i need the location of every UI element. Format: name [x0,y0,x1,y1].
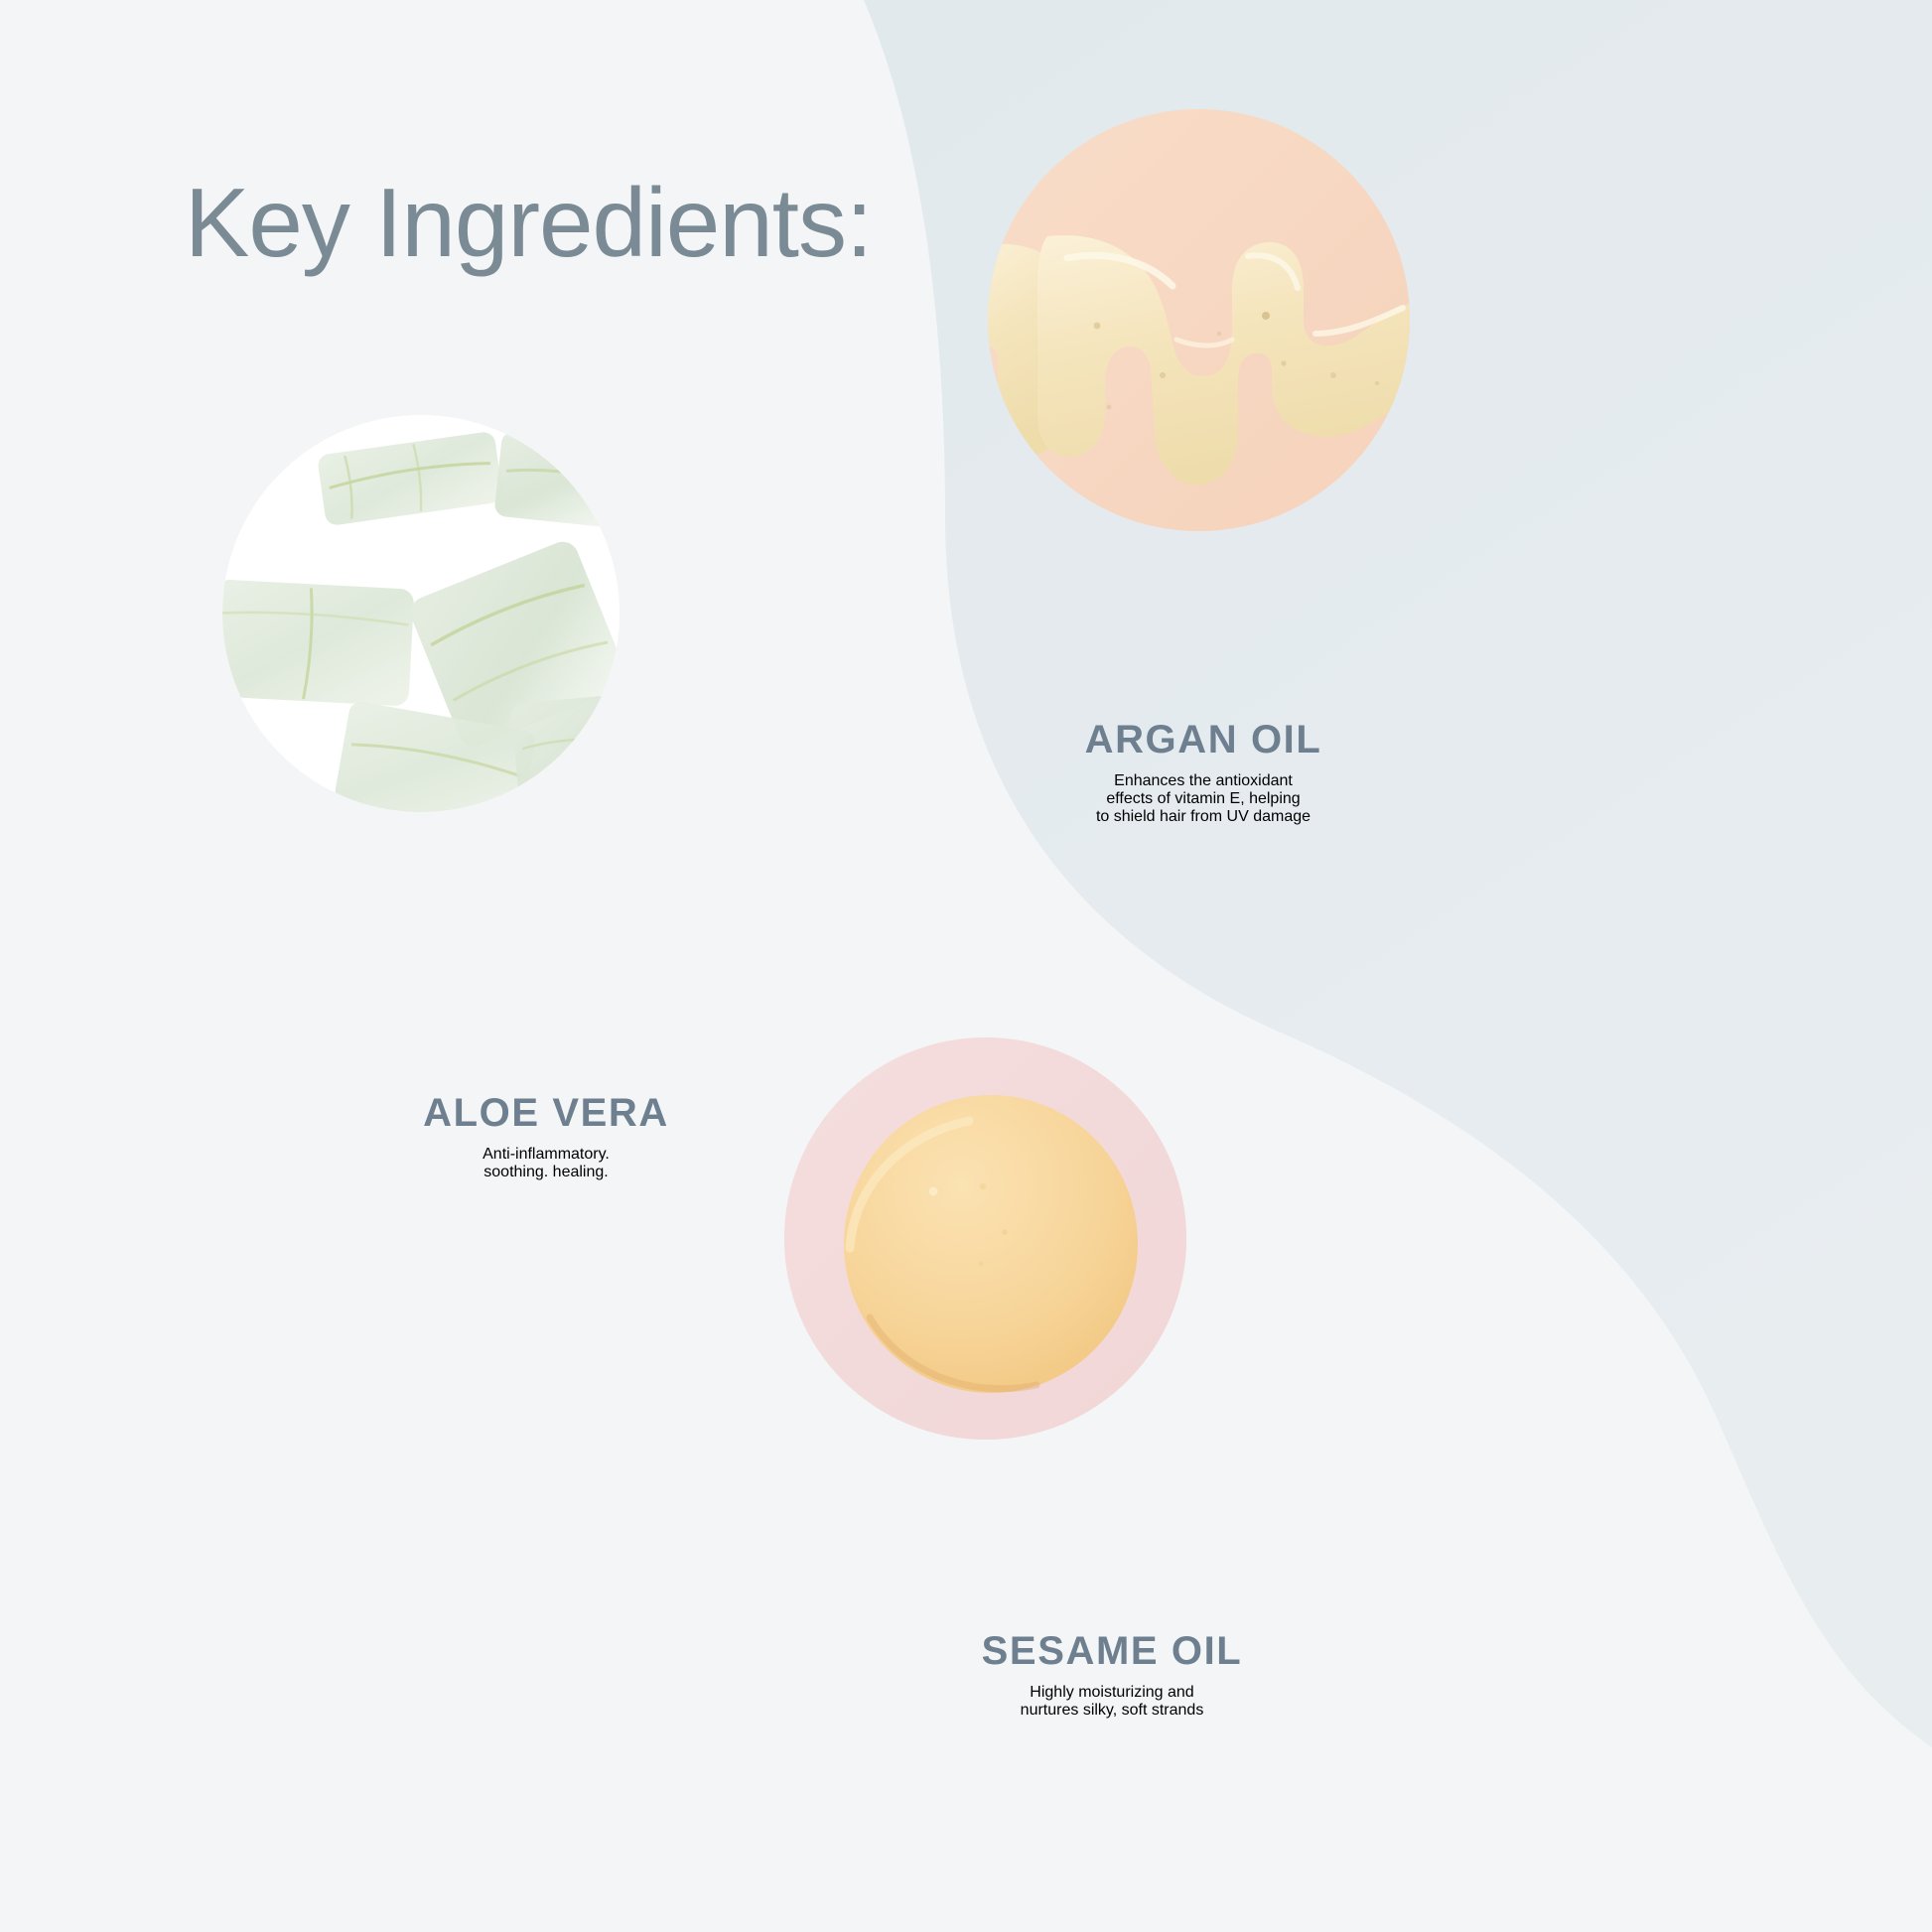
ingredient-name-aloe-vera: ALOE VERA [149,1090,943,1136]
description-line: nurtures silky, soft strands [705,1702,1519,1720]
description-line: Enhances the antioxidant [876,772,1531,790]
description-line: effects of vitamin E, helping [876,790,1531,808]
ingredients-infographic: Key Ingredients: [0,0,1932,1932]
aloe-vera-image [222,415,620,812]
ingredient-block-aloe-vera: ALOE VERA Anti-inflammatory. soothing. h… [149,1090,943,1197]
page-title: Key Ingredients: [185,167,872,279]
ingredient-name-argan-oil: ARGAN OIL [876,717,1531,762]
description-line: Highly moisturizing and [705,1684,1519,1702]
description-line: soothing. healing. [149,1164,943,1181]
description-line: Anti-inflammatory. [149,1146,943,1164]
ingredient-name-sesame-oil: SESAME OIL [705,1628,1519,1674]
ingredient-block-argan-oil: ARGAN OIL Enhances the antioxidant effec… [876,717,1531,842]
description-line: to shield hair from UV damage [876,808,1531,826]
argan-oil-image [988,109,1410,531]
ingredient-block-sesame-oil: SESAME OIL Highly moisturizing and nurtu… [705,1628,1519,1735]
